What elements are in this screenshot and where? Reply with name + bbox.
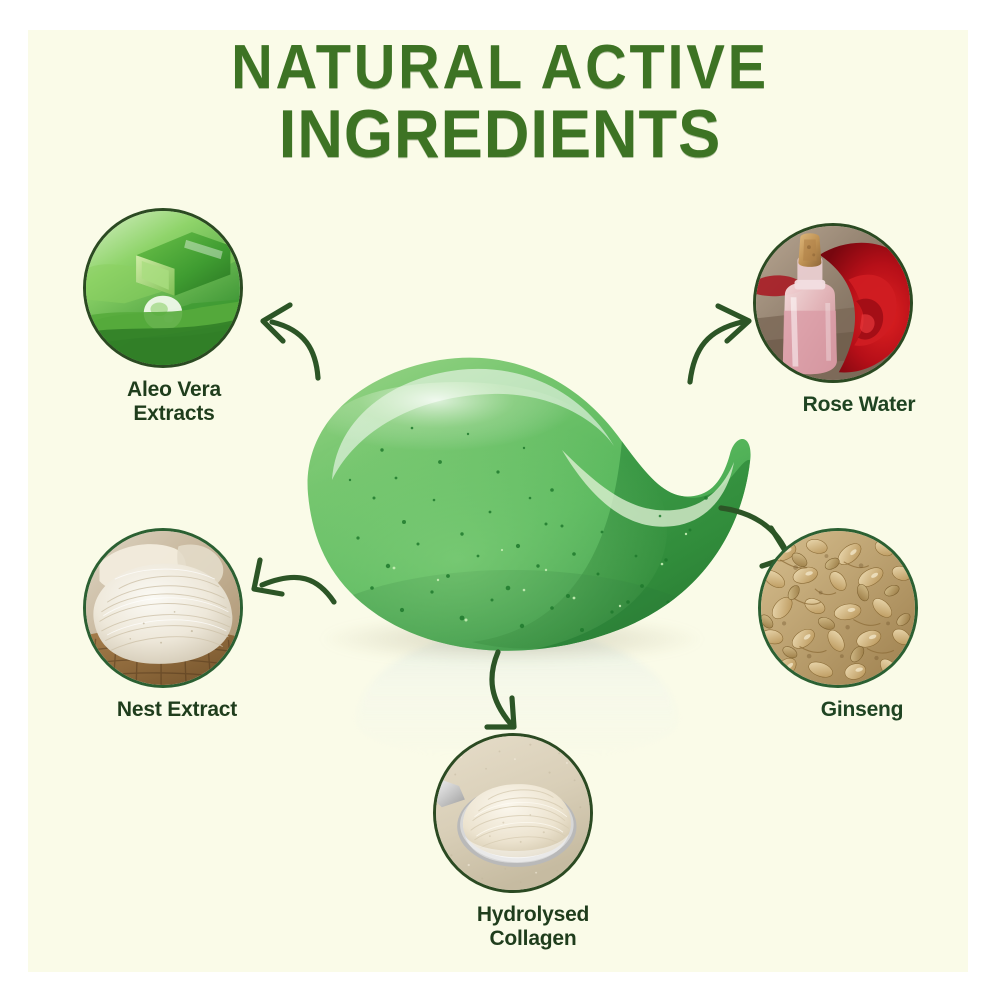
hydrolysed-collagen-image — [433, 733, 593, 893]
rose-water-image — [753, 223, 913, 383]
aloe-vera-label: Aleo Vera Extracts — [65, 378, 283, 425]
hydrolysed-collagen-label: Hydrolysed Collagen — [433, 903, 633, 950]
page-title: NATURAL ACTIVE INGREDIENTS — [0, 38, 1000, 167]
title-line-1: NATURAL ACTIVE — [35, 38, 965, 99]
ginseng-label: Ginseng — [766, 698, 958, 722]
ingredient-hydrolysed-collagen[interactable]: Hydrolysed Collagen — [433, 733, 633, 950]
green-hydrogel-eye-patch-icon — [262, 330, 762, 690]
aloe-vera-image — [83, 208, 243, 368]
ingredient-rose-water[interactable]: Rose Water — [753, 223, 953, 417]
ginseng-image — [758, 528, 918, 688]
nest-extract-label: Nest Extract — [61, 698, 293, 722]
ingredient-ginseng[interactable]: Ginseng — [758, 528, 958, 722]
title-line-2: INGREDIENTS — [35, 101, 965, 168]
nest-extract-image — [83, 528, 243, 688]
ingredient-nest-extract[interactable]: Nest Extract — [83, 528, 293, 722]
ingredients-infographic: NATURAL ACTIVE INGREDIENTS .arw { fill:n… — [0, 0, 1000, 1000]
rose-water-label: Rose Water — [765, 393, 953, 417]
center-product — [262, 330, 762, 690]
ingredient-aloe-vera[interactable]: Aleo Vera Extracts — [83, 208, 283, 425]
